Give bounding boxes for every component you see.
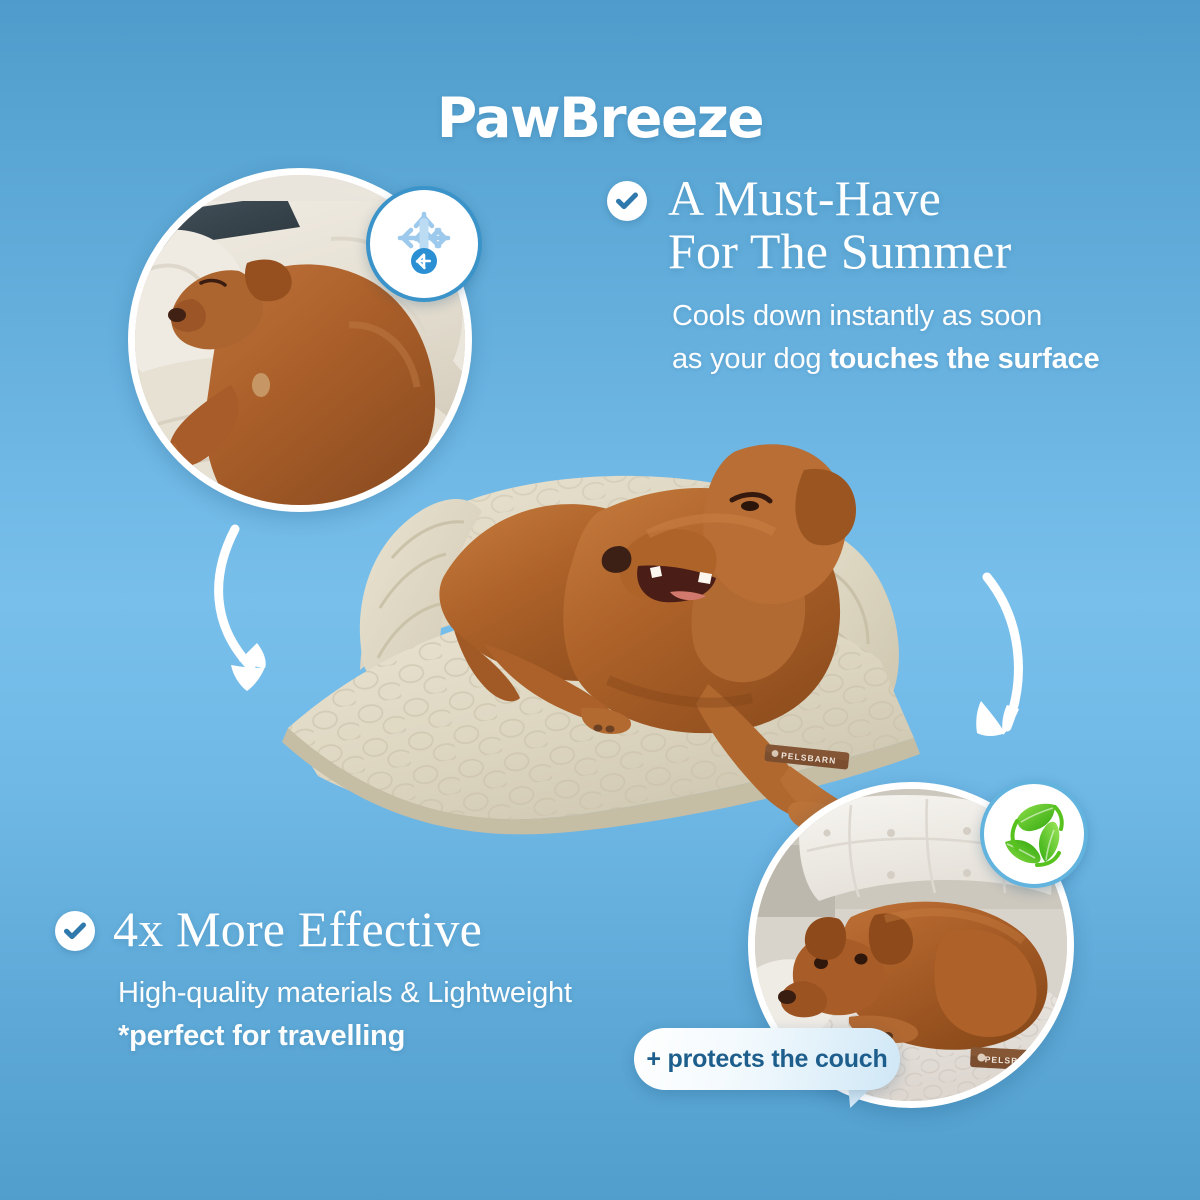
eco-badge bbox=[980, 780, 1088, 888]
subtext-top-line2-bold: touches the surface bbox=[829, 343, 1099, 375]
cooling-badge bbox=[366, 186, 482, 302]
headline-bottom-text: 4x More Effective bbox=[113, 903, 713, 956]
snowflake-thermometer-icon bbox=[387, 205, 461, 284]
brand-logo: PawBreeze bbox=[0, 86, 1200, 150]
check-circle-icon-bottom bbox=[55, 911, 95, 951]
headline-top-right: A Must-Have For The Summer bbox=[668, 172, 1188, 278]
headline-top-line1: A Must-Have bbox=[668, 172, 1188, 225]
headline-bottom-left: 4x More Effective bbox=[113, 903, 713, 956]
subtext-top-right: Cools down instantly as soon as your dog… bbox=[672, 295, 1192, 381]
headline-top-line2: For The Summer bbox=[668, 225, 1188, 278]
subtext-top-line2-normal: as your dog bbox=[672, 343, 829, 375]
eco-leaves-recycle-icon bbox=[997, 795, 1071, 874]
advertisement-canvas: PawBreeze bbox=[0, 0, 1200, 1200]
subtext-top-line1: Cools down instantly as soon bbox=[672, 295, 1192, 338]
check-circle-icon-top bbox=[607, 181, 647, 221]
hero-product-image: PELSBARN bbox=[268, 408, 968, 848]
callout-pill-label: + protects the couch bbox=[646, 1045, 887, 1074]
subtext-top-line2: as your dog touches the surface bbox=[672, 338, 1192, 381]
callout-pill: + protects the couch bbox=[634, 1028, 900, 1090]
subtext-bottom-line1: High-quality materials & Lightweight bbox=[118, 972, 758, 1015]
